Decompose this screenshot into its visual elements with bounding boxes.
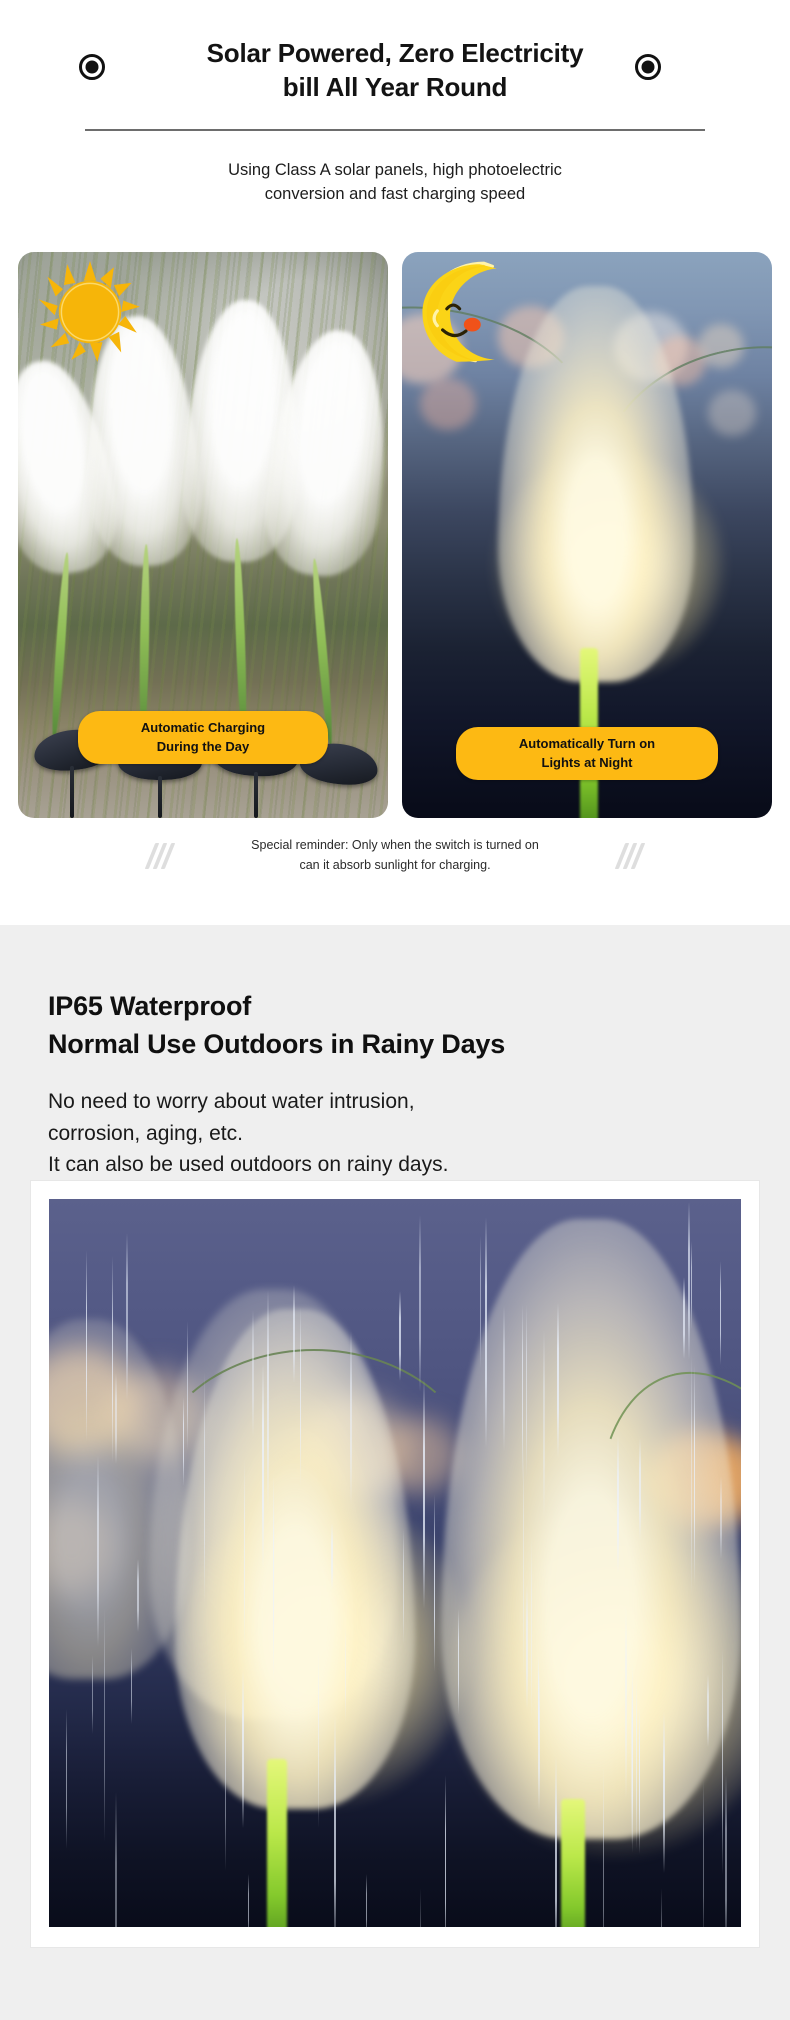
day-badge: Automatic Charging During the Day <box>78 711 328 764</box>
night-photo-card: Automatically Turn on Lights at Night <box>402 252 772 818</box>
headline-block: Solar Powered, Zero Electricity bill All… <box>0 0 790 207</box>
rain-arc-grass-left <box>149 1349 479 1609</box>
sun-icon <box>38 260 142 364</box>
page-subtitle: Using Class A solar panels, high photoel… <box>115 158 675 208</box>
rain-stem-right <box>561 1799 585 1927</box>
rain-photo <box>49 1199 741 1927</box>
slash-decoration-left <box>150 843 170 869</box>
ground-spike-1 <box>70 766 74 818</box>
bullseye-icon-right <box>635 54 661 80</box>
title-divider <box>85 129 705 131</box>
rain-stem-left <box>267 1759 287 1927</box>
waterproof-title: IP65 Waterproof Normal Use Outdoors in R… <box>48 987 790 1064</box>
solar-powered-section: Solar Powered, Zero Electricity bill All… <box>0 0 790 925</box>
waterproof-section: IP65 Waterproof Normal Use Outdoors in R… <box>0 925 790 2020</box>
night-badge: Automatically Turn on Lights at Night <box>456 727 718 780</box>
moon-icon <box>414 260 520 366</box>
photo-comparison-row: Automatic Charging During the Day <box>18 252 772 818</box>
day-photo-card: Automatic Charging During the Day <box>18 252 388 818</box>
reminder-strip: Special reminder: Only when the switch i… <box>0 836 790 875</box>
page-title: Solar Powered, Zero Electricity bill All… <box>115 36 675 105</box>
waterproof-body: No need to worry about water intrusion, … <box>48 1086 790 1182</box>
slash-decoration-right <box>620 843 640 869</box>
reminder-text: Special reminder: Only when the switch i… <box>190 836 600 875</box>
rain-photo-frame <box>31 1181 759 1947</box>
ground-spike-3 <box>254 772 258 818</box>
bullseye-icon-left <box>79 54 105 80</box>
ground-spike-2 <box>158 776 162 818</box>
